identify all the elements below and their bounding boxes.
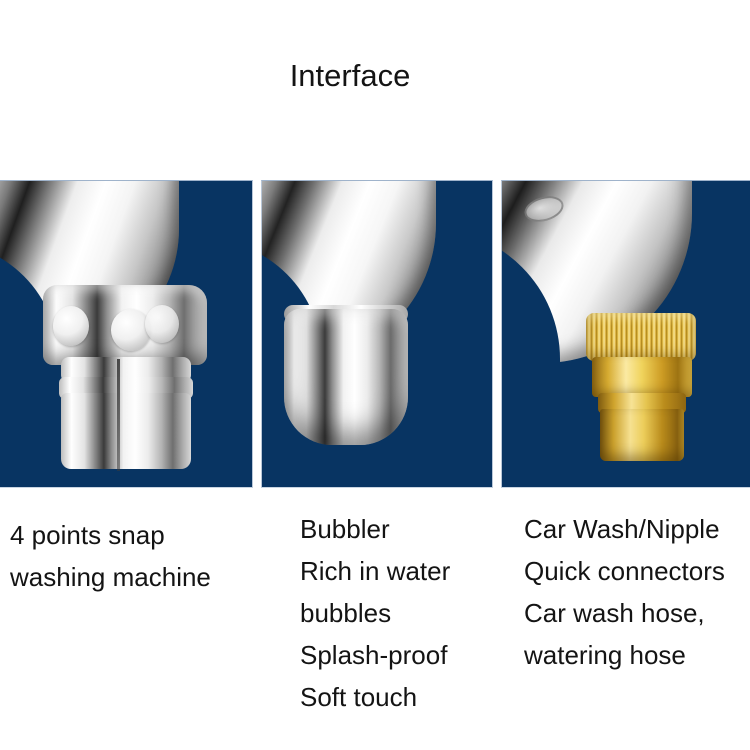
page-title: Interface: [0, 57, 700, 95]
product-image-panel-bubbler: [261, 180, 493, 488]
caption-line: Splash-proof: [300, 634, 500, 676]
product-image-panel-4-point-snap: [0, 180, 253, 488]
caption-line: washing machine: [10, 556, 250, 598]
caption-line: Soft touch: [300, 676, 500, 718]
faucet-brass-quick-connector-icon: [502, 181, 750, 487]
caption-car-wash-nipple: Car Wash/Nipple Quick connectors Car was…: [524, 488, 750, 676]
caption-line: 4 points snap: [10, 488, 250, 556]
caption-line: Rich in water: [300, 550, 500, 592]
caption-4-point-snap: 4 points snap washing machine: [10, 488, 250, 598]
product-image-panel-row: [0, 180, 750, 488]
caption-row: 4 points snap washing machine Bubbler Ri…: [0, 488, 750, 750]
caption-line: bubbles: [300, 592, 500, 634]
faucet-bubbler-aerator-icon: [262, 181, 492, 487]
caption-line: Car wash hose,: [524, 592, 750, 634]
caption-line: watering hose: [524, 634, 750, 676]
caption-bubbler: Bubbler Rich in water bubbles Splash-pro…: [300, 488, 500, 718]
caption-line: Quick connectors: [524, 550, 750, 592]
faucet-snap-connector-icon: [0, 181, 252, 487]
caption-line: Car Wash/Nipple: [524, 488, 750, 550]
caption-line: Bubbler: [300, 488, 500, 550]
product-image-panel-car-wash-nipple: [501, 180, 750, 488]
product-infographic: Interface: [0, 0, 750, 750]
